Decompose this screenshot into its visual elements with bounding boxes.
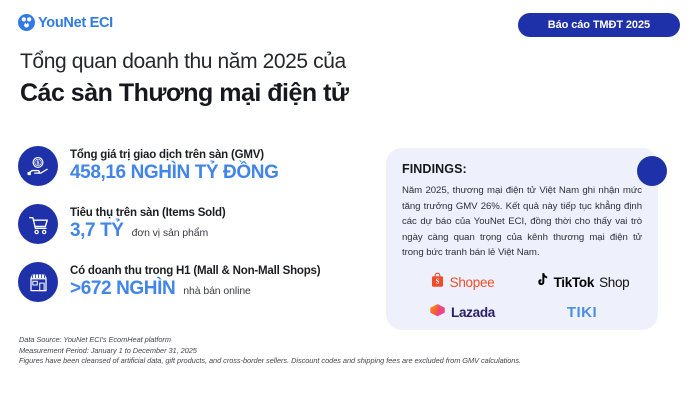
footer-measurement-period: Measurement Period: January 1 to Decembe… xyxy=(19,346,619,357)
stat-item-shops: Có doanh thu trong H1 (Mall & Non-Mall S… xyxy=(18,253,370,311)
stat-unit: đơn vị sản phẩm xyxy=(132,227,209,239)
page-title: Các sàn Thương mại điện tử xyxy=(20,79,349,108)
footer-data-source: Data Source: YouNet ECI's EcomHeat platf… xyxy=(19,335,619,346)
platform-name: Lazada xyxy=(451,305,495,320)
footer-disclaimer: Figures have been cleansed of artificial… xyxy=(19,356,619,367)
stat-item-items-sold: Tiêu thụ trên sàn (Items Sold) 3,7 TỶ đơ… xyxy=(18,195,370,253)
stat-label: Tiêu thụ trên sàn (Items Sold) xyxy=(70,207,225,219)
tiki-wordmark-icon: TIKI xyxy=(567,304,597,321)
stats-list: $ Tổng giá trị giao dịch trên sàn (GMV) … xyxy=(18,137,370,311)
platform-logo-tiki: TIKI xyxy=(522,300,642,325)
platform-logo-tiktok-shop: TikTok Shop xyxy=(522,270,642,295)
findings-panel: FINDINGS: Năm 2025, thương mại điện tử V… xyxy=(386,148,658,330)
report-badge[interactable]: Báo cáo TMĐT 2025 xyxy=(518,13,680,37)
platform-name-secondary: Shop xyxy=(599,275,629,290)
shopping-cart-icon xyxy=(18,204,58,244)
younet-circular-logo-icon xyxy=(18,14,35,31)
footer-notes: Data Source: YouNet ECI's EcomHeat platf… xyxy=(19,335,619,367)
brand-name: YouNet ECI xyxy=(38,15,113,31)
stat-item-gmv: $ Tổng giá trị giao dịch trên sàn (GMV) … xyxy=(18,137,370,195)
platform-logo-lazada: Lazada xyxy=(402,300,522,325)
page-header: YouNet ECI Báo cáo TMĐT 2025 xyxy=(18,14,680,40)
storefront-icon xyxy=(18,262,58,302)
platform-logo-shopee: S Shopee xyxy=(402,270,522,295)
lazada-bag-icon xyxy=(429,302,446,323)
stat-value: >672 NGHÌN xyxy=(70,278,175,300)
page-subtitle: Tổng quan doanh thu năm 2025 của xyxy=(20,50,346,74)
decorative-circle-icon xyxy=(637,156,667,186)
tiktok-note-icon xyxy=(535,272,549,292)
shopee-bag-icon: S xyxy=(430,272,445,293)
stat-label: Có doanh thu trong H1 (Mall & Non-Mall S… xyxy=(70,265,320,277)
stat-unit: nhà bán online xyxy=(183,285,251,297)
svg-text:$: $ xyxy=(37,161,40,167)
findings-body-text: Năm 2025, thương mại điện tử Việt Nam gh… xyxy=(402,183,642,261)
platform-name: TikTok xyxy=(554,275,594,290)
stat-label: Tổng giá trị giao dịch trên sàn (GMV) xyxy=(70,149,286,161)
svg-text:S: S xyxy=(435,278,439,285)
brand-logo: YouNet ECI xyxy=(18,14,113,31)
findings-title: FINDINGS: xyxy=(402,162,642,176)
platform-name: Shopee xyxy=(450,275,495,290)
stat-value: 458,16 NGHÌN TỶ ĐỒNG xyxy=(70,162,278,184)
platform-logos-list: S Shopee TikTok Shop xyxy=(402,270,642,325)
stat-value: 3,7 TỶ xyxy=(70,220,124,242)
hand-holding-money-icon: $ xyxy=(18,146,58,186)
